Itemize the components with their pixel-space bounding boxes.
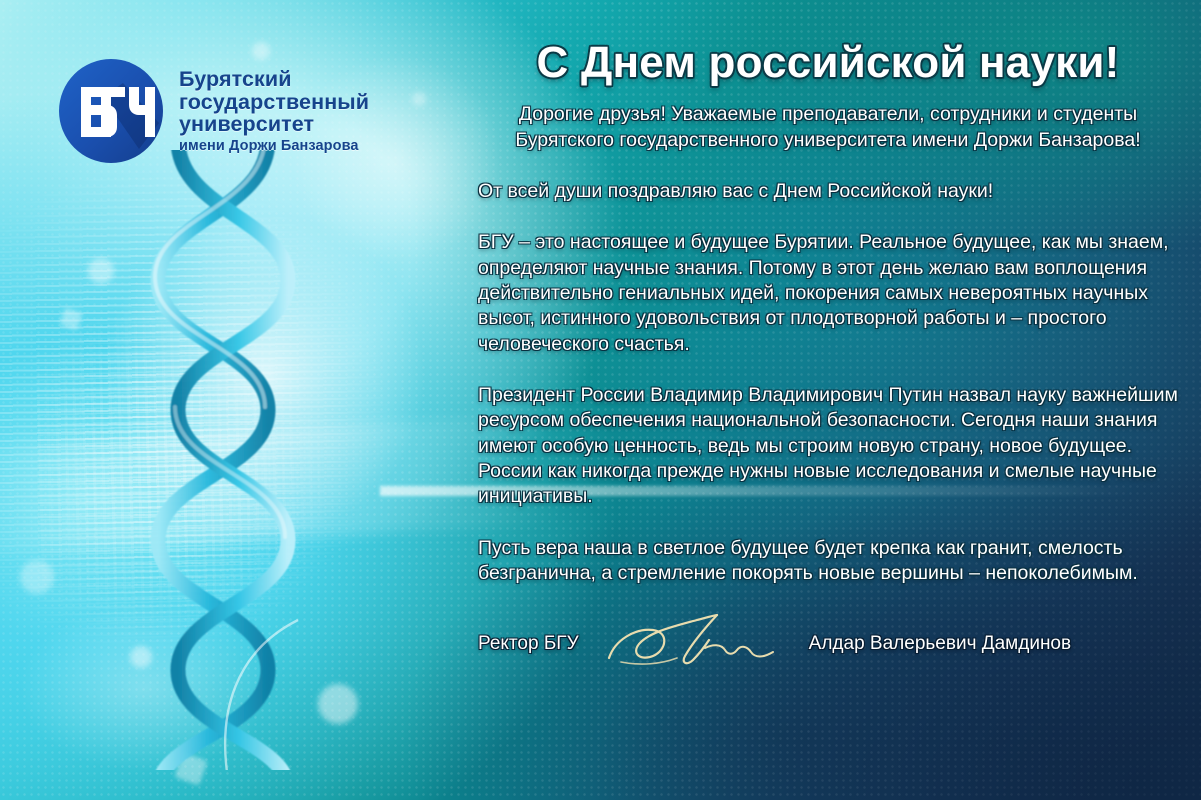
signature-name: Алдар Валерьевич Дамдинов (809, 633, 1071, 655)
logo-line-1: Бурятский (179, 68, 369, 90)
bgu-logo-text: Бурятский государственный университет им… (179, 68, 369, 153)
body-paragraph-2: Президент России Владимир Владимирович П… (478, 383, 1178, 510)
body-paragraph-1: БГУ – это настоящее и будущее Бурятии. Р… (478, 230, 1178, 357)
bokeh-light-icon (88, 258, 114, 284)
logo-line-3: университет (179, 113, 369, 135)
bokeh-light-icon (20, 560, 54, 594)
signature-role: Ректор БГУ (478, 633, 579, 655)
greeting-content: С Днем российской науки! Дорогие друзья!… (478, 40, 1178, 672)
bgu-monogram-icon (57, 57, 165, 165)
handwritten-signature-icon (601, 614, 791, 670)
logo-line-4: имени Доржи Банзарова (179, 139, 369, 154)
page-title: С Днем российской науки! (478, 40, 1178, 86)
logo-line-2: государственный (179, 91, 369, 113)
greeting-poster: Бурятский государственный университет им… (0, 0, 1201, 800)
signature-block: Ректор БГУ Алдар Валерьевич Дамдинов (478, 616, 1178, 672)
bgu-logo[interactable]: Бурятский государственный университет им… (57, 57, 369, 165)
body-paragraph-3: Пусть вера наша в светлое будущее будет … (478, 536, 1178, 587)
bokeh-light-icon (412, 92, 426, 106)
greeting-paragraph: От всей души поздравляю вас с Днем Росси… (478, 179, 1178, 204)
intro-paragraph: Дорогие друзья! Уважаемые преподаватели,… (478, 102, 1178, 153)
dna-helix-icon (118, 150, 328, 770)
